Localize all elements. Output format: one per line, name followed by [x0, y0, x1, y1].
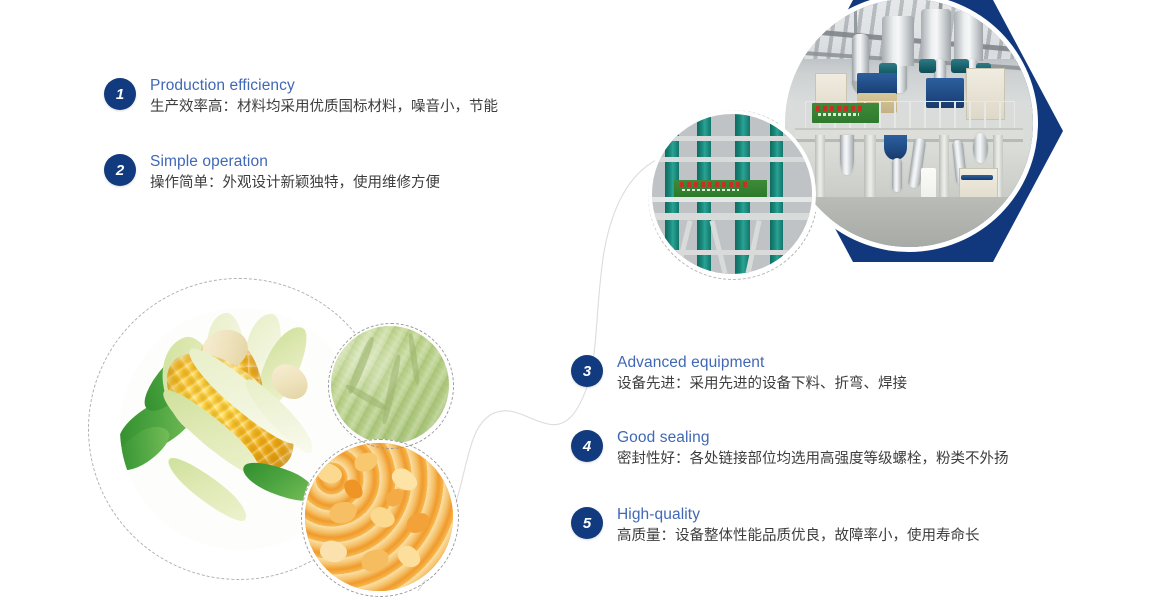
feature-item-2: 2 Simple operation 操作简单：外观设计新颖独特，使用维修方便	[104, 152, 440, 194]
machinery-image-cluster	[640, 0, 1154, 296]
banner-sign	[812, 103, 879, 123]
feature-title-3: Advanced equipment	[617, 353, 907, 373]
feature-text-5: High-quality 高质量：设备整体性能品质优良，故障率小，使用寿命长	[617, 505, 980, 547]
feature-desc-4: 密封性好：各处链接部位均选用高强度等级螺栓，粉类不外扬	[617, 448, 1009, 470]
corn-paste-photo	[331, 326, 449, 444]
feature-desc-1: 生产效率高：材料均采用优质国标材料，噪音小，节能	[150, 96, 498, 118]
feature-badge-2: 2	[104, 154, 136, 186]
machinery-main-photo	[785, 0, 1033, 247]
infographic-canvas: 1 Production efficiency 生产效率高：材料均采用优质国标材…	[0, 0, 1154, 591]
feature-item-3: 3 Advanced equipment 设备先进：采用先进的设备下料、折弯、焊…	[571, 353, 907, 395]
machinery-secondary-photo	[652, 114, 812, 274]
feature-title-2: Simple operation	[150, 152, 440, 172]
corn-image-cluster	[88, 278, 488, 591]
banner-sign-small	[674, 180, 767, 198]
feature-desc-3: 设备先进：采用先进的设备下料、折弯、焊接	[617, 373, 907, 395]
corn-grits-photo	[305, 443, 453, 591]
feature-title-1: Production efficiency	[150, 76, 498, 96]
feature-desc-2: 操作简单：外观设计新颖独特，使用维修方便	[150, 172, 440, 194]
feature-item-1: 1 Production efficiency 生产效率高：材料均采用优质国标材…	[104, 76, 498, 118]
feature-badge-1: 1	[104, 78, 136, 110]
feature-title-5: High-quality	[617, 505, 980, 525]
feature-item-5: 5 High-quality 高质量：设备整体性能品质优良，故障率小，使用寿命长	[571, 505, 980, 547]
feature-text-1: Production efficiency 生产效率高：材料均采用优质国标材料，…	[150, 76, 498, 118]
feature-item-4: 4 Good sealing 密封性好：各处链接部位均选用高强度等级螺栓，粉类不…	[571, 428, 1009, 470]
feature-text-2: Simple operation 操作简单：外观设计新颖独特，使用维修方便	[150, 152, 440, 194]
feature-badge-5: 5	[571, 507, 603, 539]
feature-text-4: Good sealing 密封性好：各处链接部位均选用高强度等级螺栓，粉类不外扬	[617, 428, 1009, 470]
feature-badge-4: 4	[571, 430, 603, 462]
feature-badge-3: 3	[571, 355, 603, 387]
feature-title-4: Good sealing	[617, 428, 1009, 448]
feature-desc-5: 高质量：设备整体性能品质优良，故障率小，使用寿命长	[617, 525, 980, 547]
feature-text-3: Advanced equipment 设备先进：采用先进的设备下料、折弯、焊接	[617, 353, 907, 395]
